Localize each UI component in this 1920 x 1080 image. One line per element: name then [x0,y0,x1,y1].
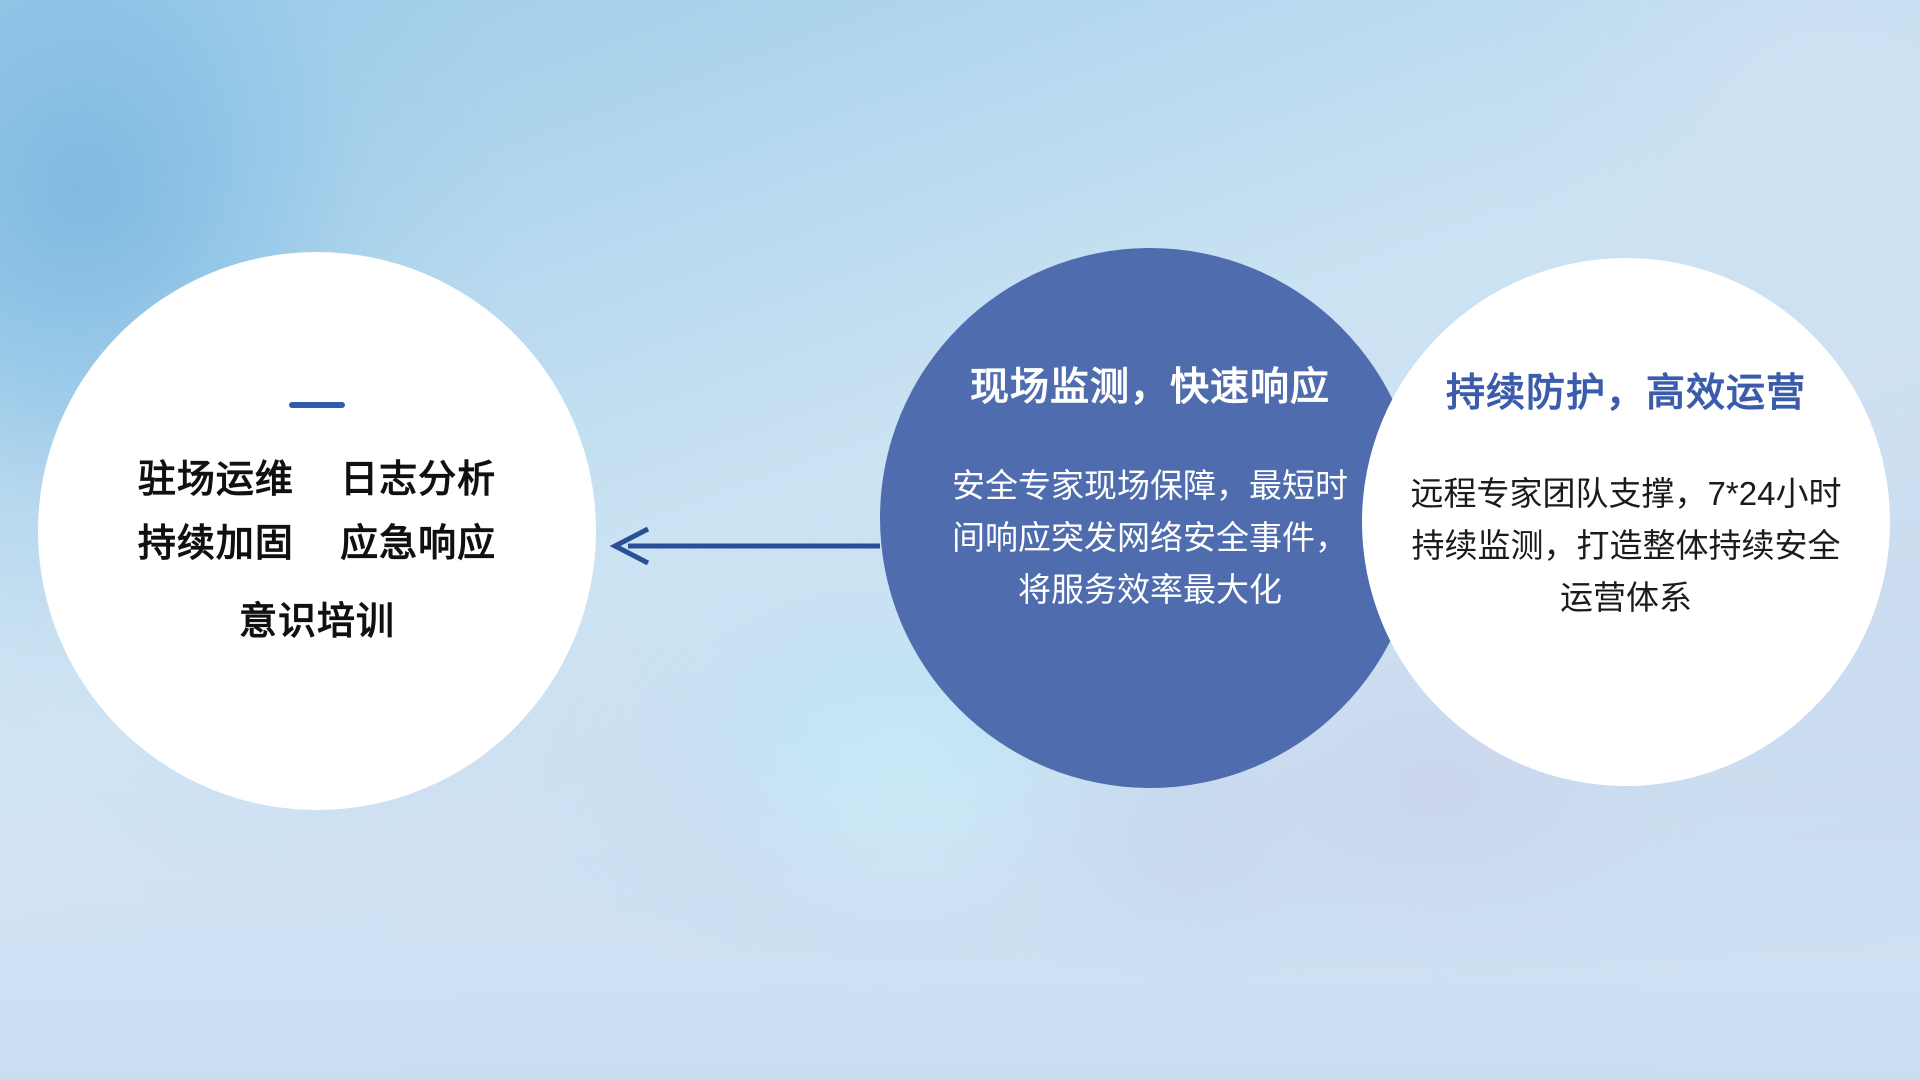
list-item: 驻场运维 日志分析 [138,448,496,512]
continuous-protection-body: 远程专家团队支撑，7*24小时持续监测，打造整体持续安全运营体系 [1396,468,1856,624]
horizontal-dash-divider-icon [289,402,345,408]
field-monitoring-body: 安全专家现场保障，最短时间响应突发网络安全事件，将服务效率最大化 [950,460,1350,616]
continuous-protection-title: 持续防护，高效运营 [1446,362,1806,418]
continuous-protection-circle: 持续防护，高效运营 远程专家团队支撑，7*24小时持续监测，打造整体持续安全运营… [1362,258,1890,786]
service-capabilities-list: 驻场运维 日志分析 持续加固 应急响应 意识培训 [138,448,496,654]
list-item: 意识培训 [138,590,496,654]
field-monitoring-title: 现场监测，快速响应 [970,356,1330,412]
slide-canvas: 现场监测，快速响应 安全专家现场保障，最短时间响应突发网络安全事件，将服务效率最… [0,0,1920,1080]
field-monitoring-circle: 现场监测，快速响应 安全专家现场保障，最短时间响应突发网络安全事件，将服务效率最… [880,248,1420,788]
service-capabilities-circle: 驻场运维 日志分析 持续加固 应急响应 意识培训 [38,252,596,810]
list-item: 持续加固 应急响应 [138,512,496,576]
